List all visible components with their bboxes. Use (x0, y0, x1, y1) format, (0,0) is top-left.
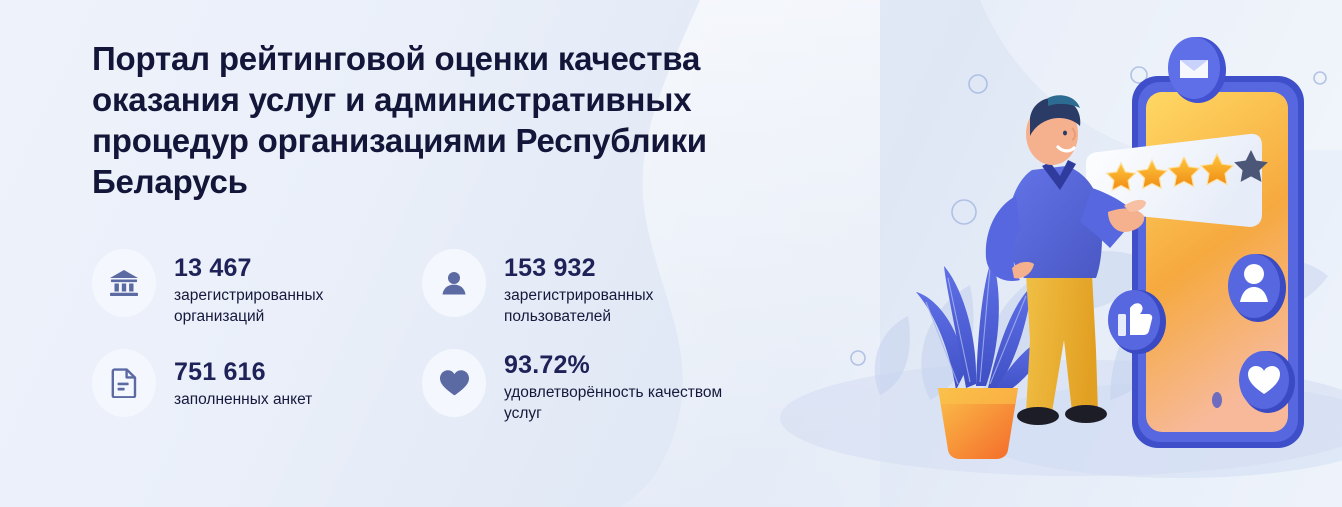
stat-text: 13 467 зарегистрированных организаций (174, 249, 404, 327)
stat-value: 153 932 (504, 254, 734, 283)
person-icon (422, 249, 486, 317)
bank-icon (92, 249, 156, 317)
stat-value: 93.72% (504, 351, 734, 380)
heart-icon (422, 349, 486, 417)
man-rating-smartphone-illustration (780, 0, 1342, 507)
stat-value: 13 467 (174, 254, 404, 283)
document-icon (92, 349, 156, 417)
stat-label: зарегистрированных пользователей (504, 285, 734, 327)
stat-label: зарегистрированных организаций (174, 285, 404, 327)
phone-home-indicator (1212, 392, 1222, 408)
page-title: Портал рейтинговой оценки качества оказа… (92, 38, 792, 202)
shoe-right (1065, 405, 1107, 423)
stat-label: заполненных анкет (174, 389, 312, 410)
hero-content: Портал рейтинговой оценки качества оказа… (92, 38, 812, 424)
hero-banner: Портал рейтинговой оценки качества оказа… (0, 0, 1342, 507)
thumbs-up-badge (1108, 290, 1166, 354)
stat-service-satisfaction: 93.72% удовлетворённость качеством услуг (422, 349, 752, 424)
stat-text: 751 616 заполненных анкет (174, 349, 312, 410)
shoe-left (1017, 407, 1059, 425)
stat-label: удовлетворённость качеством услуг (504, 382, 734, 424)
stat-registered-users: 153 932 зарегистрированных пользователей (422, 249, 752, 327)
stat-registered-organizations: 13 467 зарегистрированных организаций (92, 249, 422, 327)
stat-text: 153 932 зарегистрированных пользователей (504, 249, 734, 327)
eye (1063, 131, 1067, 136)
stat-value: 751 616 (174, 358, 312, 387)
stat-text: 93.72% удовлетворённость качеством услуг (504, 349, 734, 424)
stat-completed-forms: 751 616 заполненных анкет (92, 349, 422, 424)
statistics-grid: 13 467 зарегистрированных организаций 15… (92, 249, 812, 424)
